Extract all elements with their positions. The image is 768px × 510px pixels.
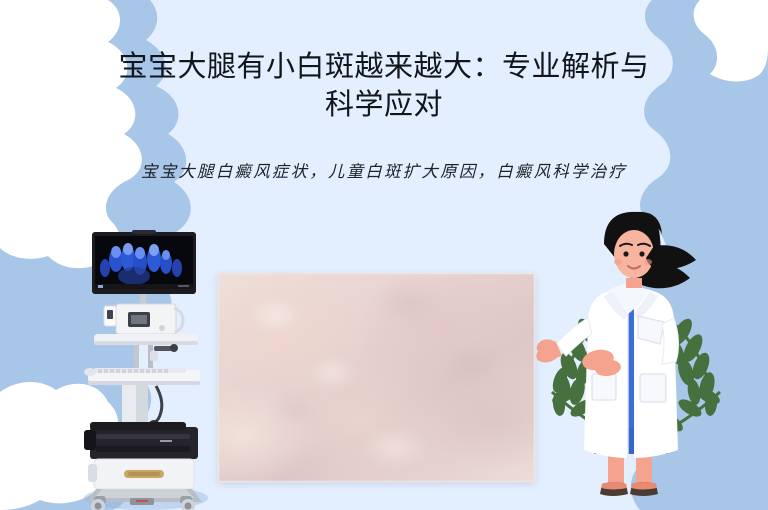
page-title: 宝宝大腿有小白斑越来越大：专业解析与 科学应对: [64, 48, 704, 124]
title-line-1: 宝宝大腿有小白斑越来越大：专业解析与: [64, 48, 704, 86]
doctor-illustration: [534, 196, 730, 510]
monitor-icon: [92, 230, 196, 306]
skin-texture-overlay: [219, 274, 534, 481]
cart-device-unit: [104, 304, 183, 334]
doctor-ponytail: [646, 245, 696, 269]
skin-closeup-photo: [218, 273, 535, 482]
medical-cart: [74, 218, 214, 510]
page-subtitle: 宝宝大腿白癜风症状，儿童白斑扩大原因，白癜风科学治疗: [54, 158, 714, 182]
cart-probe-arm: [150, 344, 178, 361]
cart-upper-shelf: [94, 334, 198, 371]
title-line-2: 科学应对: [64, 86, 704, 124]
article-cover-poster: 宝宝大腿有小白斑越来越大：专业解析与 科学应对 宝宝大腿白癜风症状，儿童白斑扩大…: [0, 0, 768, 510]
cloud-white-topright: [694, 0, 768, 82]
cart-printer: [84, 422, 198, 459]
cart-keyboard-tray: [84, 368, 200, 385]
doctor-shoes: [600, 482, 658, 496]
doctor-head: [604, 212, 696, 288]
cart-drawer: [88, 459, 194, 489]
